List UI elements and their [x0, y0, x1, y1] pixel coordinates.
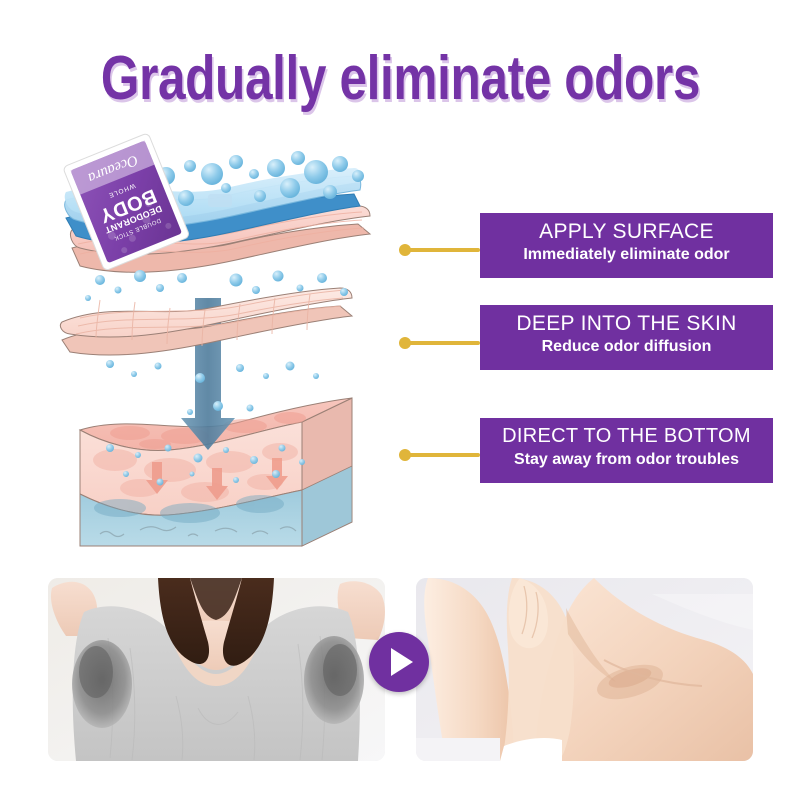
connector-dot-1 — [399, 244, 411, 256]
connector-line-3 — [404, 453, 480, 457]
callout-1-subtitle: Immediately eliminate odor — [486, 244, 767, 265]
connector-line-1 — [404, 248, 480, 252]
callout-direct-to-the-bottom[interactable]: DIRECT TO THE BOTTOM Stay away from odor… — [480, 418, 773, 483]
play-triangle-icon — [391, 648, 413, 676]
callout-1-title: APPLY SURFACE — [486, 219, 767, 244]
connector-dot-3 — [399, 449, 411, 461]
page-title-container: Gradually eliminate odors — [0, 48, 800, 110]
connector-line-2 — [404, 341, 480, 345]
after-photo[interactable] — [416, 578, 753, 761]
callout-3-subtitle: Stay away from odor troubles — [486, 449, 767, 470]
before-after-divider-button[interactable] — [369, 632, 429, 692]
callout-apply-surface[interactable]: APPLY SURFACE Immediately eliminate odor — [480, 213, 773, 278]
connector-dot-2 — [399, 337, 411, 349]
page-title: Gradually eliminate odors — [100, 48, 699, 110]
skin-layers-diagram: DOUBLE STICK DEODORANT BODY WHOLE Oceaur… — [40, 130, 400, 550]
callout-2-subtitle: Reduce odor diffusion — [486, 336, 767, 357]
callout-2-title: DEEP INTO THE SKIN — [486, 311, 767, 336]
callout-3-title: DIRECT TO THE BOTTOM — [486, 424, 767, 449]
callout-deep-into-the-skin[interactable]: DEEP INTO THE SKIN Reduce odor diffusion — [480, 305, 773, 370]
before-photo[interactable] — [48, 578, 385, 761]
